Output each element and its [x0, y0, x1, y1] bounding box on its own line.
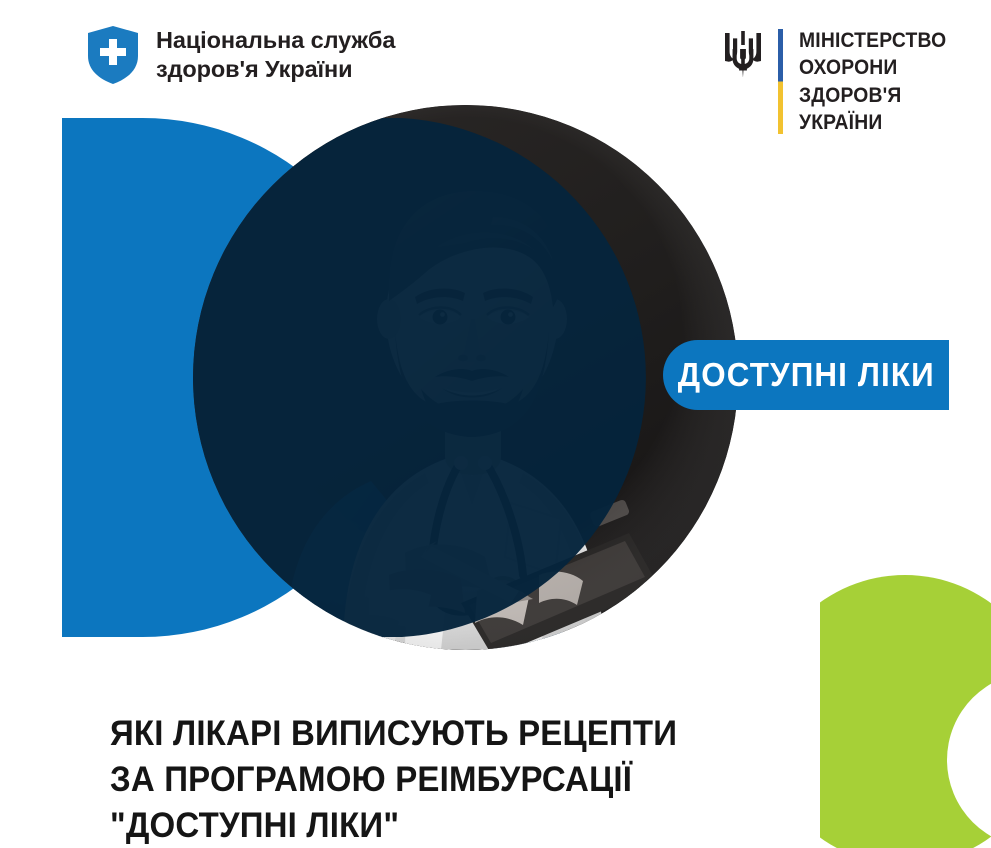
- doctor-photo: [193, 105, 738, 650]
- dostupni-liky-badge[interactable]: ДОСТУПНІ ЛІКИ: [663, 340, 949, 410]
- badge-label: ДОСТУПНІ ЛІКИ: [677, 356, 934, 394]
- page-title: ЯКІ ЛІКАРІ ВИПИСУЮТЬ РЕЦЕПТИ ЗА ПРОГРАМО…: [110, 710, 761, 848]
- green-crescent-shape: [820, 575, 991, 848]
- poster-canvas: Національна служба здоров'я України МІНІ…: [0, 0, 991, 848]
- doctor-photo-illustration: [193, 105, 738, 650]
